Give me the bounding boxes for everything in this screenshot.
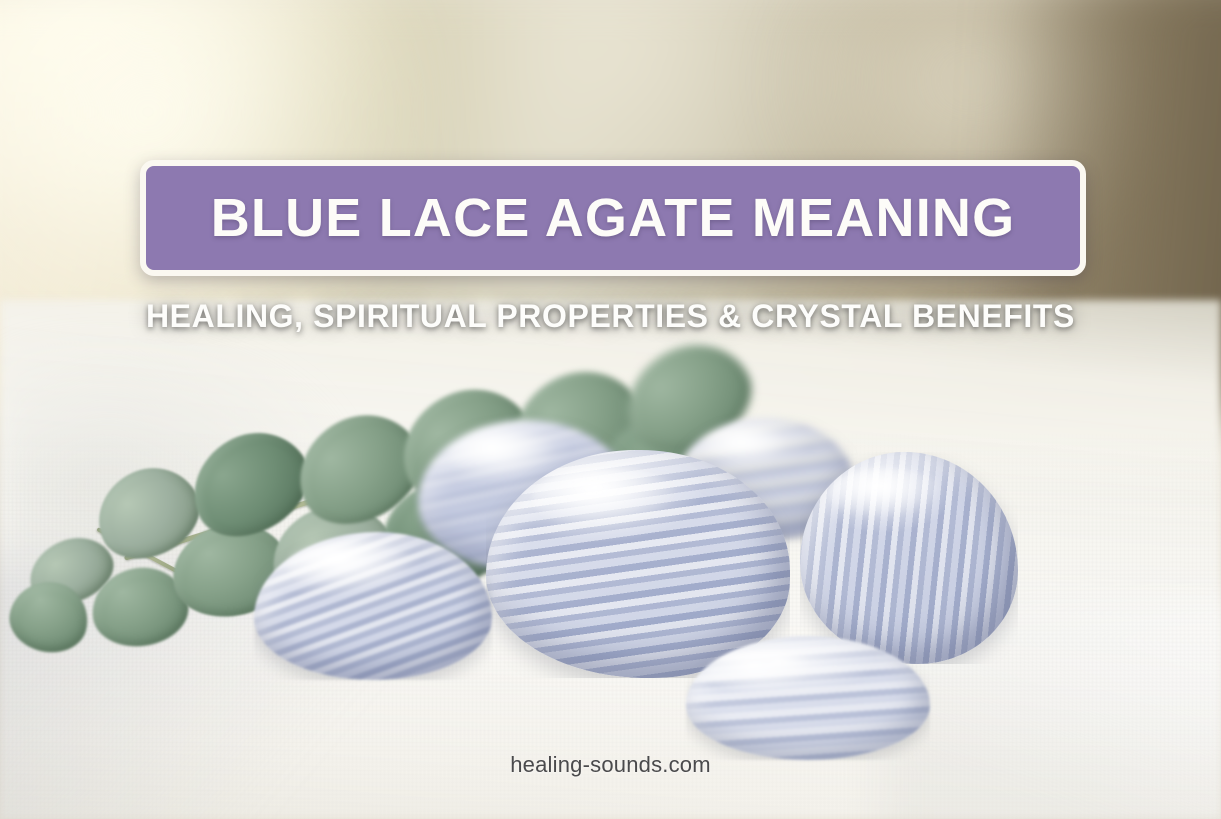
agate-stone-front-bottom: [686, 636, 930, 760]
stone-highlight: [532, 468, 682, 530]
agate-stone-front-left: [254, 532, 492, 680]
stone-highlight: [286, 542, 418, 590]
page-subtitle: HEALING, SPIRITUAL PROPERTIES & CRYSTAL …: [0, 298, 1221, 335]
page-title: BLUE LACE AGATE MEANING: [211, 191, 1016, 245]
stone-highlight: [708, 650, 818, 694]
stone-body: [686, 636, 930, 760]
agate-stone-right: [800, 452, 1018, 664]
site-url-watermark: healing-sounds.com: [0, 752, 1221, 778]
title-banner: BLUE LACE AGATE MEANING: [140, 160, 1086, 276]
stone-highlight: [828, 468, 946, 520]
hero-banner-image: BLUE LACE AGATE MEANING HEALING, SPIRITU…: [0, 0, 1221, 819]
